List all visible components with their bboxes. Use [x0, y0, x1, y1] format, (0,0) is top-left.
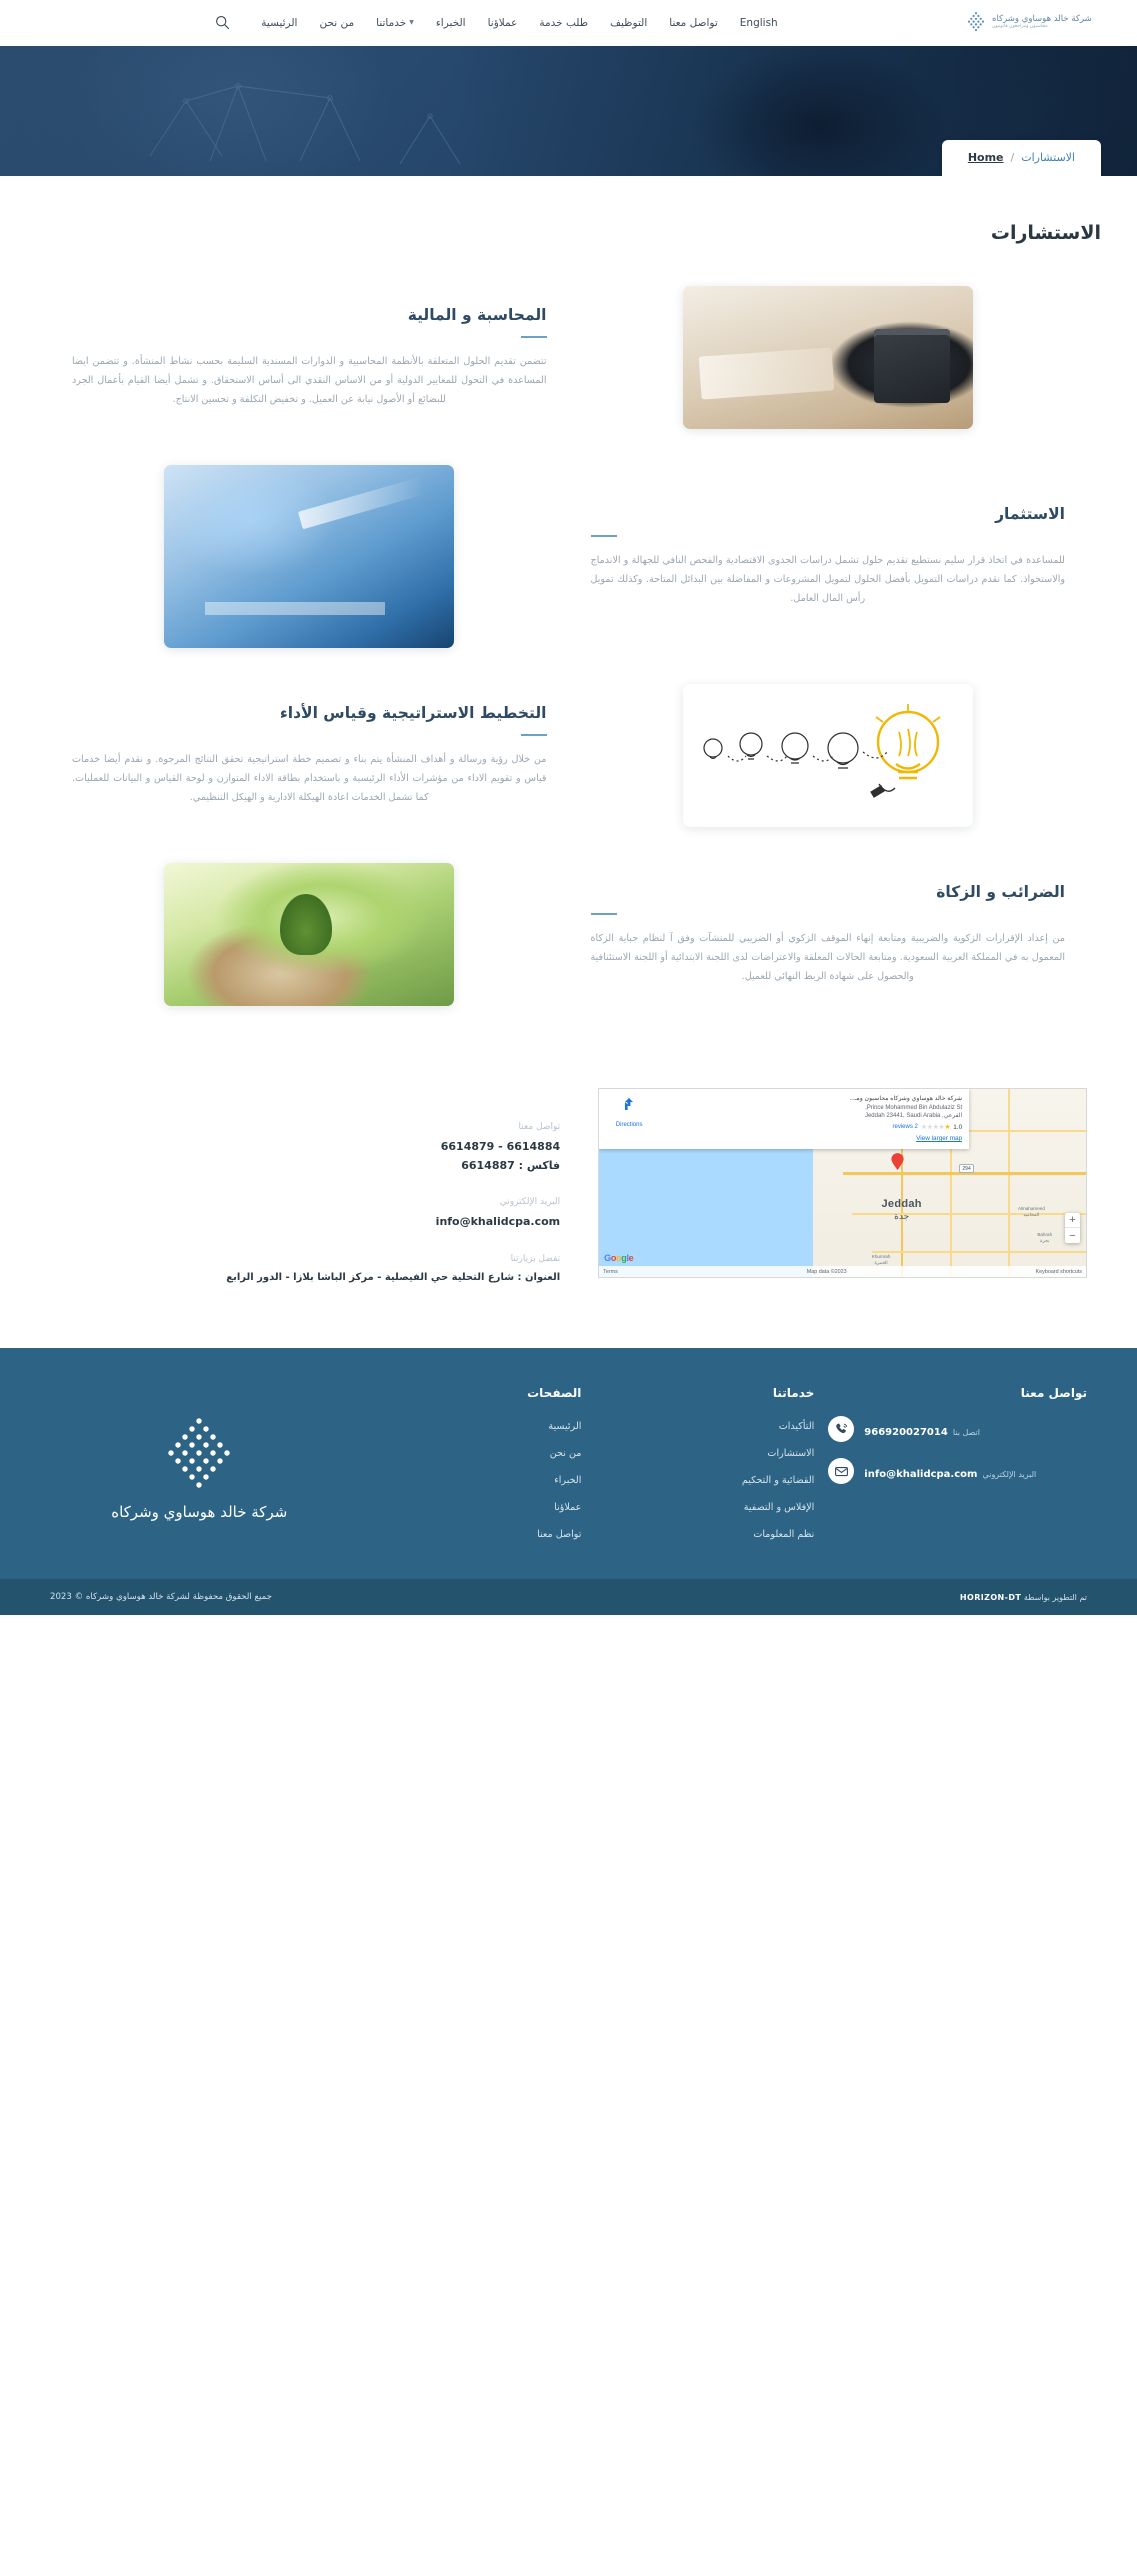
nav-label: English	[740, 17, 778, 29]
service-body: من إعداد الإقرارات الزكوية والضريبية ومت…	[591, 929, 1066, 987]
nav-item-english[interactable]: English	[740, 17, 778, 29]
footer-services-heading: خدماتنا	[595, 1386, 814, 1400]
map-nearby-bahrah: Bahrah بحرة	[1037, 1232, 1052, 1244]
contact-phone-value: 6614884 - 6614879	[60, 1138, 560, 1157]
service-image-wrap	[569, 684, 1088, 827]
site-logo[interactable]: شركة خالد هوساوي وشركاه محاسبون ومراجعون…	[965, 6, 1115, 40]
nav-label: تواصل معنا	[669, 17, 718, 29]
footer-services-list: التأكيدات الاستشارات القضائية و التحكيم …	[595, 1414, 814, 1541]
service-body: من خلال رؤية ورسالة و أهداف المنشأة يتم …	[72, 750, 547, 808]
contact-email-group: البريد الإلكتروني info@khalidcpa.com	[60, 1197, 560, 1232]
copyright-text: جميع الحقوق محفوظة لشركة خالد هوساوي وشر…	[50, 1592, 272, 1602]
breadcrumb-home-link[interactable]: Home	[968, 151, 1004, 164]
title-underline	[591, 913, 617, 915]
page-title-section: الاستشارات	[0, 176, 1137, 254]
footer-link-litigation[interactable]: القضائية و التحكيم	[742, 1475, 814, 1486]
contact-and-map-section: تواصل معنا 6614884 - 6614879 فاكس : 6614…	[0, 1064, 1137, 1348]
site-footer: شركة خالد هوساوي وشركاه الصفحات الرئيسية…	[0, 1348, 1137, 1579]
map-card-rating-value: 1.0	[953, 1124, 962, 1131]
map-city-en: Jeddah	[882, 1198, 922, 1210]
investment-chart-photo	[164, 465, 454, 648]
nav-label: التوظيف	[610, 17, 647, 29]
footer-phone-value: 966920027014	[864, 1427, 948, 1438]
footer-link-clients[interactable]: عملاؤنا	[554, 1502, 581, 1513]
footer-phone-text: اتصل بنا 966920027014	[864, 1420, 980, 1439]
google-map-embed[interactable]: 294 Jeddah جدة Almahameed المحاميد Bahra…	[598, 1088, 1087, 1278]
footer-link-consulting[interactable]: الاستشارات	[767, 1448, 814, 1459]
map-card-address-line1: Prince Mohammed Bin Abdulaziz St,	[658, 1104, 962, 1112]
service-body: تتضمن تقديم الحلول المتعلقة بالأنظمة الم…	[72, 352, 547, 410]
phone-icon	[828, 1416, 854, 1442]
footer-email-label: البريد الإلكتروني	[983, 1470, 1037, 1479]
footer-link-bankruptcy[interactable]: الإفلاس و التصفية	[744, 1502, 815, 1513]
page-title: الاستشارات	[36, 222, 1101, 244]
nav-label: الخبراء	[436, 17, 466, 29]
footer-logo-mark-icon	[154, 1415, 244, 1493]
footer-column-pages: الصفحات الرئيسية من نحن الخبراء عملاؤنا …	[363, 1386, 582, 1549]
service-text-wrap: الاستثمار للمساعدة في اتخاذ قرار سليم نس…	[569, 504, 1088, 608]
main-navigation: English تواصل معنا التوظيف طلب خدمة عملا…	[22, 10, 965, 36]
map-road	[872, 1251, 1086, 1253]
footer-column-services: خدماتنا التأكيدات الاستشارات القضائية و …	[595, 1386, 814, 1549]
nav-item-experts[interactable]: الخبراء	[436, 17, 466, 29]
star-rating-icon: ★★★★★	[921, 1123, 950, 1131]
nav-item-home[interactable]: الرئيسية	[261, 17, 297, 29]
list-item: عملاؤنا	[363, 1495, 582, 1514]
footer-link-home[interactable]: الرئيسية	[548, 1421, 581, 1432]
map-terms-link[interactable]: Terms	[603, 1269, 618, 1275]
nav-item-careers[interactable]: التوظيف	[610, 17, 647, 29]
map-zoom-controls[interactable]: + −	[1065, 1213, 1080, 1243]
map-city-ar: جدة	[882, 1211, 922, 1222]
title-underline	[521, 734, 547, 736]
directions-icon	[621, 1096, 637, 1112]
developer-prefix: تم التطوير بواسطة	[1024, 1593, 1087, 1602]
map-location-pin[interactable]	[891, 1153, 904, 1170]
contact-email-value[interactable]: info@khalidcpa.com	[60, 1213, 560, 1232]
footer-column-contact: تواصل معنا اتصل بنا 966920027014	[828, 1386, 1087, 1549]
service-body: للمساعدة في اتخاذ قرار سليم نستطيع تقديم…	[591, 551, 1066, 609]
site-header: شركة خالد هوساوي وشركاه محاسبون ومراجعون…	[0, 0, 1137, 46]
service-title: المحاسبة و المالية	[72, 305, 547, 327]
map-keyboard-shortcuts[interactable]: Keyboard shortcuts	[1036, 1269, 1082, 1275]
map-column: 294 Jeddah جدة Almahameed المحاميد Bahra…	[598, 1088, 1087, 1278]
map-zoom-in-button[interactable]: +	[1065, 1213, 1080, 1228]
footer-contact-heading: تواصل معنا	[828, 1386, 1087, 1400]
breadcrumb-separator: /	[1011, 151, 1015, 164]
chevron-down-icon: ▼	[409, 20, 414, 26]
service-block-accounting: المحاسبة و المالية تتضمن تقديم الحلول ال…	[0, 268, 1137, 447]
map-card-main: شركة خالد هوساوي وشركاه محاسبون ومـ... P…	[658, 1095, 962, 1142]
list-item: تواصل معنا	[363, 1522, 582, 1541]
footer-link-information-systems[interactable]: نظم المعلومات	[753, 1529, 814, 1540]
lightbulb-idea-illustration	[683, 684, 973, 827]
contact-address-label: تفضل بزيارتنا	[60, 1254, 560, 1264]
services-list: المحاسبة و المالية تتضمن تقديم الحلول ال…	[0, 254, 1137, 1064]
nav-item-contact[interactable]: تواصل معنا	[669, 17, 718, 29]
footer-link-about[interactable]: من نحن	[550, 1448, 582, 1459]
service-text-wrap: التخطيط الاستراتيجية وقياس الأداء من خلا…	[50, 703, 569, 807]
service-block-strategic-planning: التخطيط الاستراتيجية وقياس الأداء من خلا…	[0, 666, 1137, 845]
map-footer-bar: Keyboard shortcuts Map data ©2023 Terms	[599, 1266, 1086, 1277]
service-title: الاستثمار	[591, 504, 1066, 526]
map-directions-button[interactable]: Directions	[606, 1095, 652, 1131]
logo-mark-icon	[965, 10, 987, 36]
footer-phone-item[interactable]: اتصل بنا 966920027014	[828, 1416, 1087, 1442]
footer-link-assurance[interactable]: التأكيدات	[779, 1421, 815, 1432]
service-image-wrap	[569, 286, 1088, 429]
developer-credit: تم التطوير بواسطة HORIZON-DT	[960, 1593, 1087, 1602]
nav-label: خدماتنا	[376, 17, 406, 29]
google-logo: Google	[604, 1253, 633, 1263]
list-item: نظم المعلومات	[595, 1522, 814, 1541]
footer-email-text: البريد الإلكتروني info@khalidcpa.com	[864, 1462, 1036, 1481]
list-item: الاستشارات	[595, 1441, 814, 1460]
list-item: الخبراء	[363, 1468, 582, 1487]
map-nearby-en: Almahameed	[1018, 1206, 1045, 1212]
map-nearby-khumrah: Khumrah الخمرة	[872, 1254, 891, 1266]
service-title: التخطيط الاستراتيجية وقياس الأداء	[72, 703, 547, 725]
footer-email-value: info@khalidcpa.com	[864, 1469, 977, 1480]
footer-link-contact[interactable]: تواصل معنا	[537, 1529, 581, 1540]
map-nearby-almahameed: Almahameed المحاميد	[1018, 1206, 1045, 1218]
hero-banner: الاستشارات / Home	[0, 46, 1137, 176]
plant-in-hands-photo	[164, 863, 454, 1006]
service-title: الضرائب و الزكاة	[591, 882, 1066, 904]
map-card-rating-row: 1.0 ★★★★★ 2 reviews	[658, 1123, 962, 1131]
list-item: الرئيسية	[363, 1414, 582, 1433]
nav-item-about[interactable]: من نحن	[319, 17, 354, 29]
footer-pages-list: الرئيسية من نحن الخبراء عملاؤنا تواصل مع…	[363, 1414, 582, 1541]
map-nearby-ar: بحرة	[1037, 1238, 1052, 1244]
service-image-wrap	[50, 465, 569, 648]
footer-link-experts[interactable]: الخبراء	[554, 1475, 581, 1486]
map-card-reviews[interactable]: 2 reviews	[892, 1124, 917, 1130]
nav-item-request-service[interactable]: طلب خدمة	[539, 17, 588, 29]
nav-label: من نحن	[319, 17, 354, 29]
list-item: من نحن	[363, 1441, 582, 1460]
nav-item-clients[interactable]: عملاؤنا	[488, 17, 518, 29]
developer-name[interactable]: HORIZON-DT	[960, 1593, 1021, 1602]
title-underline	[521, 336, 547, 338]
service-image-wrap	[50, 863, 569, 1006]
map-data-credit: Map data ©2023	[807, 1269, 847, 1275]
contact-phone-group: تواصل معنا 6614884 - 6614879 فاكس : 6614…	[60, 1122, 560, 1175]
contact-fax-value: فاكس : 6614887	[60, 1157, 560, 1176]
copyright-bar: جميع الحقوق محفوظة لشركة خالد هوساوي وشر…	[0, 1579, 1137, 1615]
logo-wordmark: شركة خالد هوساوي وشركاه محاسبون ومراجعون…	[992, 15, 1092, 30]
map-place-card[interactable]: شركة خالد هوساوي وشركاه محاسبون ومـ... P…	[599, 1089, 969, 1149]
nav-label: الرئيسية	[261, 17, 297, 29]
nav-label: طلب خدمة	[539, 17, 588, 29]
contact-email-label: البريد الإلكتروني	[60, 1197, 560, 1207]
map-nearby-ar: المحاميد	[1018, 1212, 1045, 1218]
accounting-desk-photo	[683, 286, 973, 429]
map-card-address-line2: الفرعي, Jeddah 23441, Saudi Arabia	[658, 1112, 962, 1120]
footer-pages-heading: الصفحات	[363, 1386, 582, 1400]
footer-brand: شركة خالد هوساوي وشركاه	[50, 1386, 349, 1549]
service-text-wrap: الضرائب و الزكاة من إعداد الإقرارات الزك…	[569, 882, 1088, 986]
logo-line-1: شركة خالد هوساوي وشركاه	[992, 15, 1092, 24]
footer-wordmark: شركة خالد هوساوي وشركاه	[111, 1503, 287, 1521]
nav-label: عملاؤنا	[488, 17, 518, 29]
envelope-icon	[828, 1458, 854, 1484]
list-item: القضائية و التحكيم	[595, 1468, 814, 1487]
list-item: الإفلاس و التصفية	[595, 1495, 814, 1514]
map-directions-label: Directions	[616, 1122, 643, 1128]
map-city-label: Jeddah جدة	[882, 1198, 922, 1222]
map-view-larger-link[interactable]: View larger map	[658, 1135, 962, 1142]
service-block-tax-zakat: الضرائب و الزكاة من إعداد الإقرارات الزك…	[0, 845, 1137, 1024]
breadcrumb-current: الاستشارات	[1021, 151, 1075, 164]
contact-details: تواصل معنا 6614884 - 6614879 فاكس : 6614…	[50, 1088, 580, 1308]
map-card-title: شركة خالد هوساوي وشركاه محاسبون ومـ...	[658, 1095, 962, 1102]
contact-phone-label: تواصل معنا	[60, 1122, 560, 1132]
breadcrumb: الاستشارات / Home	[942, 140, 1101, 176]
map-nearby-en: Bahrah	[1037, 1232, 1052, 1238]
search-icon[interactable]	[209, 10, 235, 36]
list-item: التأكيدات	[595, 1414, 814, 1433]
contact-address-value: العنوان : شارع التحلية حي الفيصلية - مرك…	[60, 1270, 560, 1286]
service-block-investment: الاستثمار للمساعدة في اتخاذ قرار سليم نس…	[0, 447, 1137, 666]
map-road	[1008, 1089, 1010, 1277]
nav-item-services[interactable]: ▼ خدماتنا	[376, 17, 414, 29]
map-route-shield: 294	[959, 1164, 973, 1173]
contact-address-group: تفضل بزيارتنا العنوان : شارع التحلية حي …	[60, 1254, 560, 1286]
map-zoom-out-button[interactable]: −	[1065, 1228, 1080, 1243]
logo-line-2: محاسبون ومراجعون قانونيون	[992, 25, 1048, 30]
footer-phone-label: اتصل بنا	[953, 1428, 980, 1437]
footer-email-item[interactable]: البريد الإلكتروني info@khalidcpa.com	[828, 1458, 1087, 1484]
service-text-wrap: المحاسبة و المالية تتضمن تقديم الحلول ال…	[50, 305, 569, 409]
title-underline	[591, 535, 617, 537]
